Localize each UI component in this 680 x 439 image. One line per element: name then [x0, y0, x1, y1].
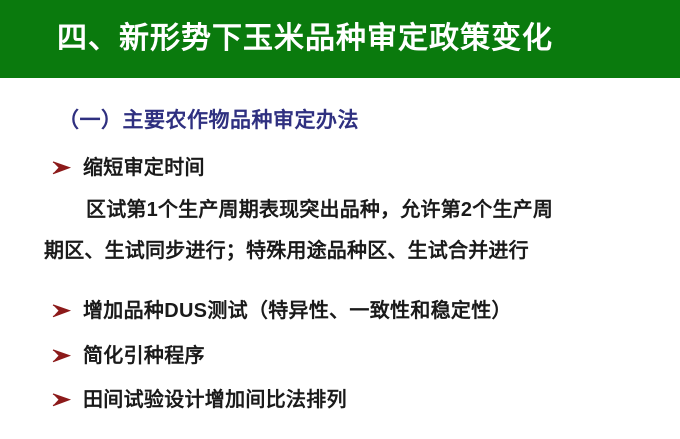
list-item-label: 简化引种程序 [83, 346, 205, 366]
list-item-label: 增加品种DUS测试（特异性、一致性和稳定性） [83, 301, 512, 321]
arrowhead-bullet-icon [52, 346, 74, 366]
header-banner: 四、新形势下玉米品种审定政策变化 [0, 0, 680, 78]
list-item: 简化引种程序 [52, 346, 205, 366]
arrowhead-bullet-icon [52, 301, 74, 321]
section-heading: （一）主要农作物品种审定办法 [58, 104, 359, 134]
list-item-label: 缩短审定时间 [83, 158, 205, 178]
list-item: 缩短审定时间 [52, 158, 205, 178]
list-item: 增加品种DUS测试（特异性、一致性和稳定性） [52, 301, 512, 321]
page-title: 四、新形势下玉米品种审定政策变化 [0, 24, 553, 54]
slide-content: （一）主要农作物品种审定办法 缩短审定时间 区试第1个生产周期表现突出品种，允许… [0, 78, 680, 439]
arrowhead-bullet-icon [52, 390, 74, 410]
arrowhead-bullet-icon [52, 158, 74, 178]
slide-container: 四、新形势下玉米品种审定政策变化 （一）主要农作物品种审定办法 缩短审定时间 区… [0, 0, 680, 439]
paragraph-line-1: 区试第1个生产周期表现突出品种，允许第2个生产周 [86, 200, 553, 220]
list-item-label: 田间试验设计增加间比法排列 [83, 390, 347, 410]
list-item: 田间试验设计增加间比法排列 [52, 390, 347, 410]
paragraph-line-2: 期区、生试同步进行；特殊用途品种区、生试合并进行 [44, 241, 529, 261]
